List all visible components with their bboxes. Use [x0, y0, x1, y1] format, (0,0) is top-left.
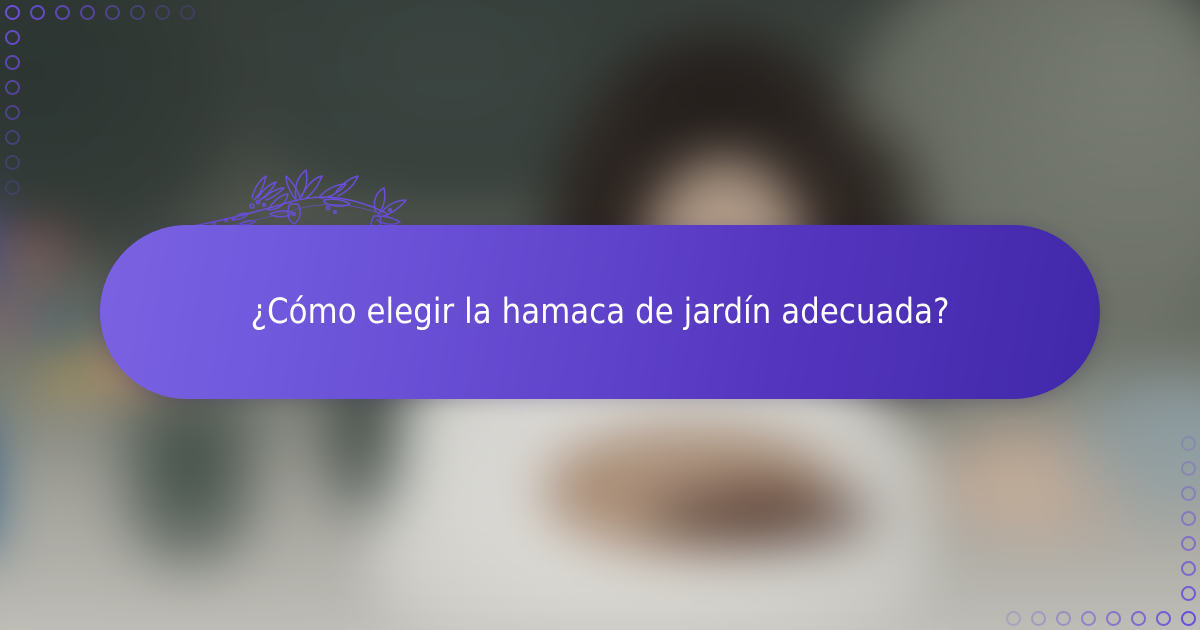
- decoration-dot: [1031, 611, 1046, 626]
- decoration-dot: [5, 105, 20, 120]
- decoration-dot: [1081, 611, 1096, 626]
- page-title: ¿Cómo elegir la hamaca de jardín adecuad…: [251, 293, 950, 332]
- decoration-dot: [1006, 611, 1021, 626]
- decoration-dot: [1181, 586, 1196, 601]
- decoration-dot: [5, 180, 20, 195]
- decoration-dot: [5, 30, 20, 45]
- decoration-dot: [55, 5, 70, 20]
- decoration-dot: [1181, 436, 1196, 451]
- decoration-dot: [1106, 611, 1121, 626]
- decoration-dot: [5, 130, 20, 145]
- decoration-dot: [5, 5, 20, 20]
- decoration-dot: [1131, 611, 1146, 626]
- decoration-dot: [180, 5, 195, 20]
- decoration-dot: [1156, 611, 1171, 626]
- decoration-dot: [1181, 486, 1196, 501]
- decoration-dot: [1181, 461, 1196, 476]
- decoration-dot: [5, 155, 20, 170]
- decoration-dot: [80, 5, 95, 20]
- decoration-dot: [155, 5, 170, 20]
- decoration-dot: [1181, 561, 1196, 576]
- title-pill: ¿Cómo elegir la hamaca de jardín adecuad…: [100, 225, 1100, 399]
- decoration-dot: [5, 80, 20, 95]
- decoration-dot: [1181, 511, 1196, 526]
- decoration-dot: [30, 5, 45, 20]
- decoration-dot: [130, 5, 145, 20]
- social-card: ¿Cómo elegir la hamaca de jardín adecuad…: [0, 0, 1200, 630]
- decoration-dot: [105, 5, 120, 20]
- decoration-dot: [5, 55, 20, 70]
- decoration-dot: [1181, 611, 1196, 626]
- decoration-dot: [1181, 536, 1196, 551]
- decoration-dot: [1056, 611, 1071, 626]
